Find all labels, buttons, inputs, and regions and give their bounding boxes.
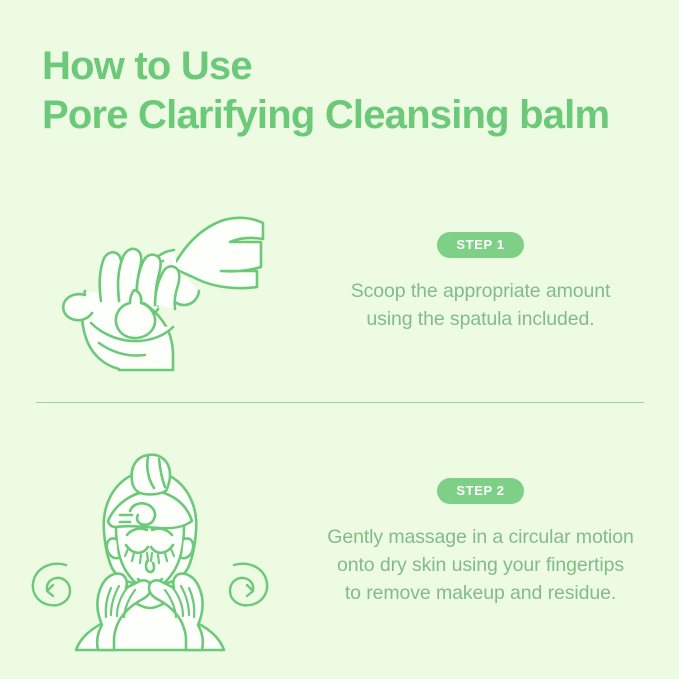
step-2-line-2: onto dry skin using your fingertips xyxy=(327,551,633,579)
page-title-line-1: How to Use xyxy=(42,42,662,91)
woman-face-massaging-cheeks-with-swirls-icon xyxy=(20,435,280,650)
step-2-row: STEP 2 Gently massage in a circular moti… xyxy=(0,430,679,655)
step-2-badge: STEP 2 xyxy=(437,478,523,504)
step-1-badge: STEP 1 xyxy=(437,232,523,258)
step-1-line-2: using the spatula included. xyxy=(351,305,611,333)
step-1-text-cell: STEP 1 Scoop the appropriate amount usin… xyxy=(300,232,679,333)
page-title: How to Use Pore Clarifying Cleansing bal… xyxy=(42,42,662,140)
step-1-line-1: Scoop the appropriate amount xyxy=(351,277,611,305)
step-1-illustration-cell xyxy=(0,185,300,380)
step-1-badge-wrap: STEP 1 xyxy=(437,232,523,258)
swirl-left-icon xyxy=(33,564,70,606)
step-1-row: STEP 1 Scoop the appropriate amount usin… xyxy=(0,185,679,380)
step-2-line-1: Gently massage in a circular motion xyxy=(327,523,633,551)
step-2-line-3: to remove makeup and residue. xyxy=(327,579,633,607)
step-2-badge-wrap: STEP 2 xyxy=(437,478,523,504)
step-1-description: Scoop the appropriate amount using the s… xyxy=(351,277,611,333)
hand-palm-with-balm-and-spatula-hand-icon xyxy=(25,195,275,370)
step-2-illustration-cell xyxy=(0,430,300,655)
step-2-description: Gently massage in a circular motion onto… xyxy=(327,523,633,607)
page-title-line-2: Pore Clarifying Cleansing balm xyxy=(42,91,662,140)
section-divider xyxy=(36,402,644,403)
swirl-right-icon xyxy=(230,564,267,606)
step-2-text-cell: STEP 2 Gently massage in a circular moti… xyxy=(300,478,679,607)
infographic-page: How to Use Pore Clarifying Cleansing bal… xyxy=(0,0,679,679)
